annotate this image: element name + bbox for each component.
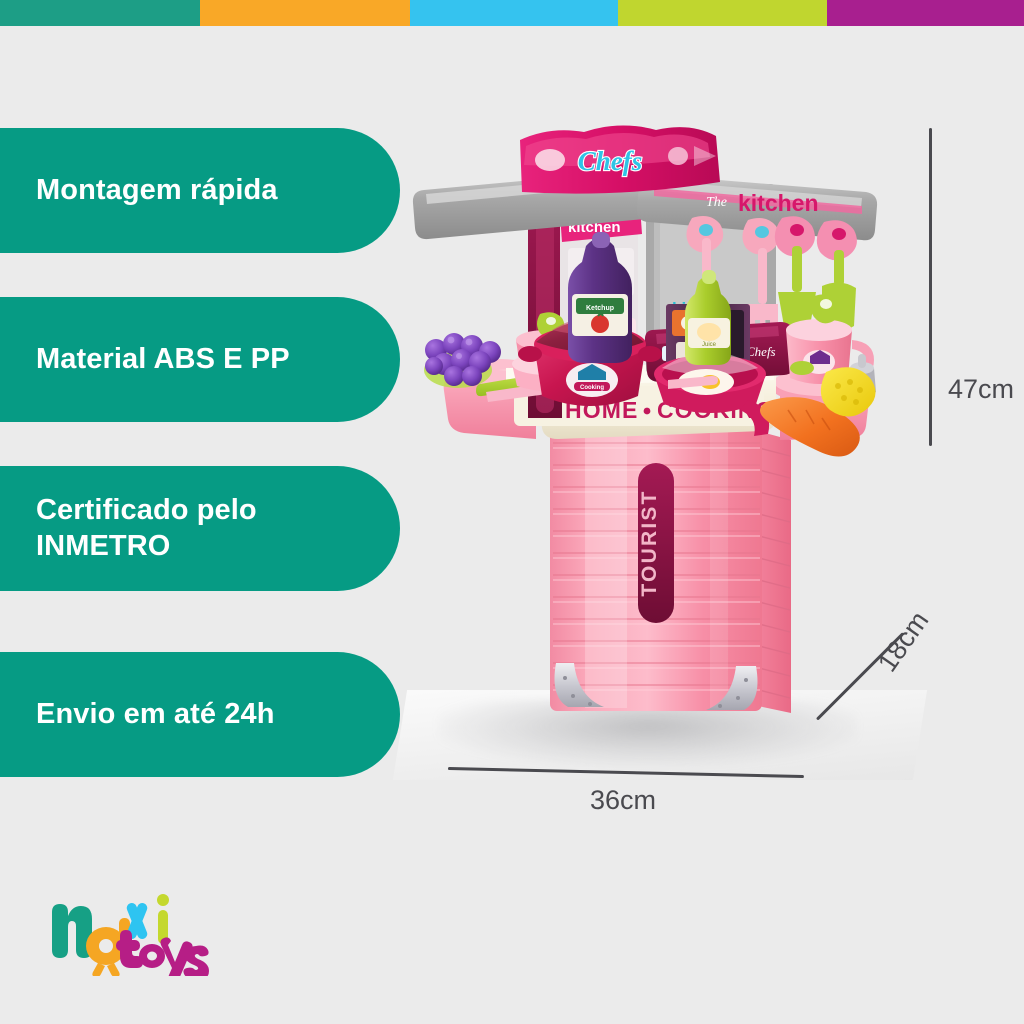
feature-pill-montagem-rapida[interactable]: Montagem rápida [0,128,400,253]
maxi-toys-logo[interactable] [44,888,209,976]
top-color-bands [0,0,1024,26]
feature-pill-label: Material ABS E PP [36,342,290,377]
hood-the-text: The [706,195,727,210]
hood-kitchen-text: kitchen [738,190,819,216]
feature-pill-certificado-inmetro[interactable]: Certificado pelo INMETRO [0,466,400,591]
feature-pill-envio-24h[interactable]: Envio em até 24h [0,652,400,777]
top-band-blue [410,0,618,26]
suitcase-body: TOURIST [550,423,791,713]
maxi-toys-logo-svg [44,888,209,976]
product-image-kitchen-playset: TOURIST [410,118,890,768]
dimension-height-line [929,128,932,446]
ketchup-label-text: Ketchup [586,305,614,312]
product-illustration: TOURIST [410,118,890,768]
top-band-teal [0,0,200,26]
poster-canvas: Montagem rápida Material ABS E PP Certif… [0,0,1024,1024]
logo-letter-m [52,904,92,958]
top-band-magenta [827,0,1024,26]
utensil-spatula [775,216,816,334]
feature-pill-material-abs-pp[interactable]: Material ABS E PP [0,297,400,422]
feature-pill-label: Montagem rápida [36,173,278,208]
top-band-green [618,0,827,26]
counter-chefs-text: Chefs [746,344,776,359]
suitcase-tourist-text: TOURIST [638,489,661,596]
food-lime-garnish [790,361,814,375]
logo-o-hole [147,952,157,961]
pot-badge-text: Cooking [580,385,604,391]
worktop-dot [644,408,651,415]
feature-pill-label: Envio em até 24h [36,697,275,732]
logo-letter-i [157,894,169,944]
chefs-sign-text: Chefs [578,146,643,176]
top-band-orange [200,0,410,26]
svg-text:Juice: Juice [702,342,717,348]
dimension-width-label: 36cm [590,785,656,816]
feature-pill-label: Certificado pelo INMETRO [36,493,257,564]
dimension-height-label: 47cm [948,374,1014,405]
